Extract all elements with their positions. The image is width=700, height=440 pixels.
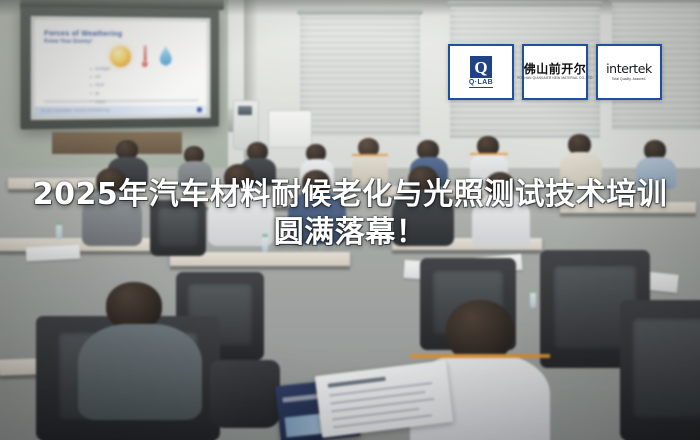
poster-image: Forces of Weathering Know Your Enemy! Su…: [0, 0, 700, 440]
thermometer-tube: [143, 45, 146, 61]
qlab-letter: Q: [474, 59, 487, 76]
presentation-slide: Forces of Weathering Know Your Enemy! Su…: [35, 20, 207, 116]
chair-mesh: [157, 207, 200, 247]
slide-bullet: UV: [90, 74, 110, 79]
attendee-head: [446, 300, 514, 362]
attendee-body: [78, 324, 202, 420]
qlab-wordmark: Q·LAB: [469, 79, 493, 88]
office-chair: [150, 200, 206, 256]
logo-qlab: Q Q·LAB: [448, 44, 514, 100]
booklet-heading: [328, 377, 386, 388]
slide-title: Forces of Weathering: [44, 28, 122, 38]
qlab-lockup: Q Q·LAB: [469, 56, 493, 88]
slide-footnote: [44, 99, 198, 103]
water-bottle: [56, 222, 62, 240]
chair-mesh: [632, 318, 700, 419]
attendee-body: [82, 192, 142, 246]
qiankaier-wordmark-cn: 佛山前开尔: [524, 63, 587, 75]
screen-surface: Forces of Weathering Know Your Enemy! Su…: [31, 16, 211, 120]
attendee-body: [178, 161, 212, 189]
attendee-body: [352, 154, 388, 184]
handout: [26, 245, 81, 262]
slide-bullet: IR: [90, 91, 110, 96]
window-blind: [300, 14, 420, 136]
purifier-panel: [238, 106, 252, 115]
intertek-lockup: intertek Total Quality. Assured.: [606, 63, 652, 81]
logo-intertek: intertek Total Quality. Assured.: [596, 44, 662, 100]
backpack: [210, 360, 280, 428]
intertek-wordmark: intertek: [606, 63, 652, 76]
attendee-head: [106, 282, 162, 330]
qlab-mark-icon: Q: [470, 56, 492, 78]
thermometer-icon: [142, 45, 148, 67]
attendee-body: [472, 194, 530, 248]
sun-icon: [110, 45, 131, 66]
projection-screen: Forces of Weathering Know Your Enemy! Su…: [20, 7, 219, 130]
slide-bullet: Heat: [90, 82, 110, 87]
desk: [560, 202, 696, 213]
slide-icon-row: [110, 45, 173, 67]
slide-logo-icon: [197, 107, 202, 112]
attendee-body: [288, 192, 346, 244]
qiankaier-lockup: 佛山前开尔 FOSHAN QIANKAIER NEW MATERIAL CO.,…: [517, 63, 592, 80]
water-bottle: [530, 290, 536, 308]
slide-footer-text: Q-Lab Corporation · Forces of Weathering: [41, 108, 109, 113]
logo-qiankaier: 佛山前开尔 FOSHAN QIANKAIER NEW MATERIAL CO.,…: [522, 44, 588, 100]
attendee-body: [560, 152, 602, 186]
thermometer-bulb: [142, 61, 148, 67]
partner-logo-bar: Q Q·LAB 佛山前开尔 FOSHAN QIANKAIER NEW MATER…: [448, 44, 662, 100]
slide-footer-bar: Q-Lab Corporation · Forces of Weathering: [35, 105, 207, 116]
water-drop-icon: [158, 46, 173, 66]
water-bottle: [262, 234, 268, 252]
slide-bullet: Sunlight: [90, 66, 110, 71]
intertek-tagline: Total Quality. Assured.: [612, 78, 647, 81]
lanyard: [352, 154, 388, 184]
slide-subtitle: Know Your Enemy!: [44, 38, 92, 44]
qiankaier-wordmark-en: FOSHAN QIANKAIER NEW MATERIAL CO.,LTD: [517, 77, 592, 80]
blind-slats: [300, 14, 420, 136]
attendee-body: [392, 190, 454, 246]
attendee-body: [636, 157, 676, 189]
whiteboard: [268, 110, 312, 148]
office-chair: [620, 300, 700, 440]
